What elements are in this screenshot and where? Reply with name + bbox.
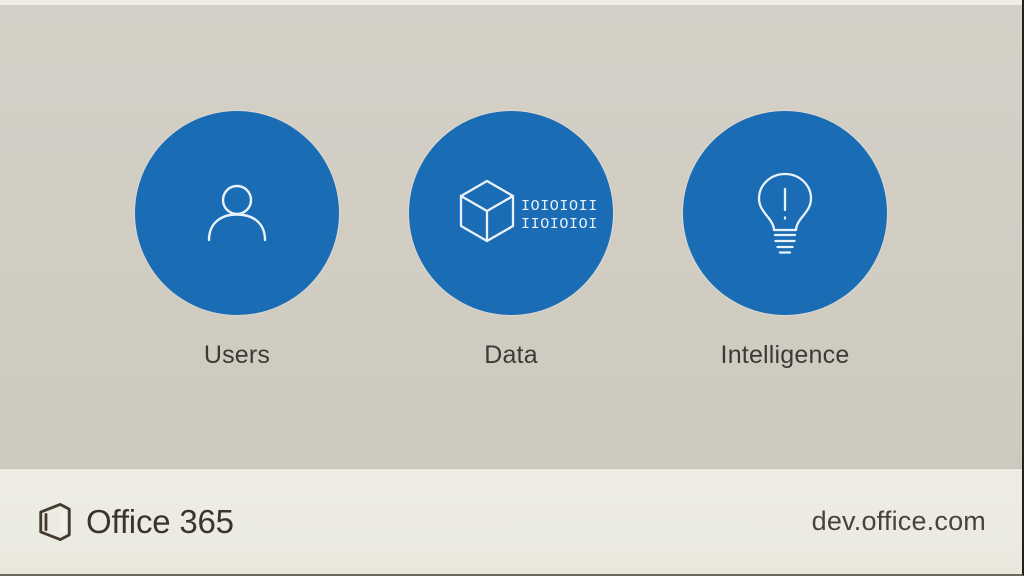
- pillar-intelligence-label: Intelligence: [721, 343, 850, 368]
- lightbulb-icon: [754, 170, 816, 256]
- data-binary-top: IOIOIOII: [521, 198, 598, 215]
- slide: Users: [0, 0, 1024, 576]
- pillar-users[interactable]: Users: [135, 111, 339, 368]
- pillar-intelligence[interactable]: Intelligence: [683, 111, 887, 368]
- data-cube-icon: IOIOIOII IIOIOIOI: [453, 173, 569, 253]
- brand-lockup: Office 365: [38, 503, 234, 541]
- pillar-intelligence-disc[interactable]: [683, 111, 887, 315]
- pillar-data[interactable]: IOIOIOII IIOIOIOI Data: [409, 111, 613, 368]
- pillar-users-label: Users: [204, 343, 270, 368]
- footer-bar: Office 365 dev.office.com: [0, 468, 1022, 574]
- pillar-data-label: Data: [484, 343, 538, 368]
- site-url: dev.office.com: [812, 506, 986, 537]
- brand-name: Office 365: [86, 503, 234, 541]
- slide-stage: Users: [0, 5, 1022, 470]
- pillar-users-disc[interactable]: [135, 111, 339, 315]
- office-logo-icon: [38, 503, 72, 541]
- pillar-group: Users: [0, 111, 1022, 368]
- pillar-data-disc[interactable]: IOIOIOII IIOIOIOI: [409, 111, 613, 315]
- data-binary-bottom: IIOIOIOI: [521, 216, 598, 233]
- person-icon: [199, 175, 275, 251]
